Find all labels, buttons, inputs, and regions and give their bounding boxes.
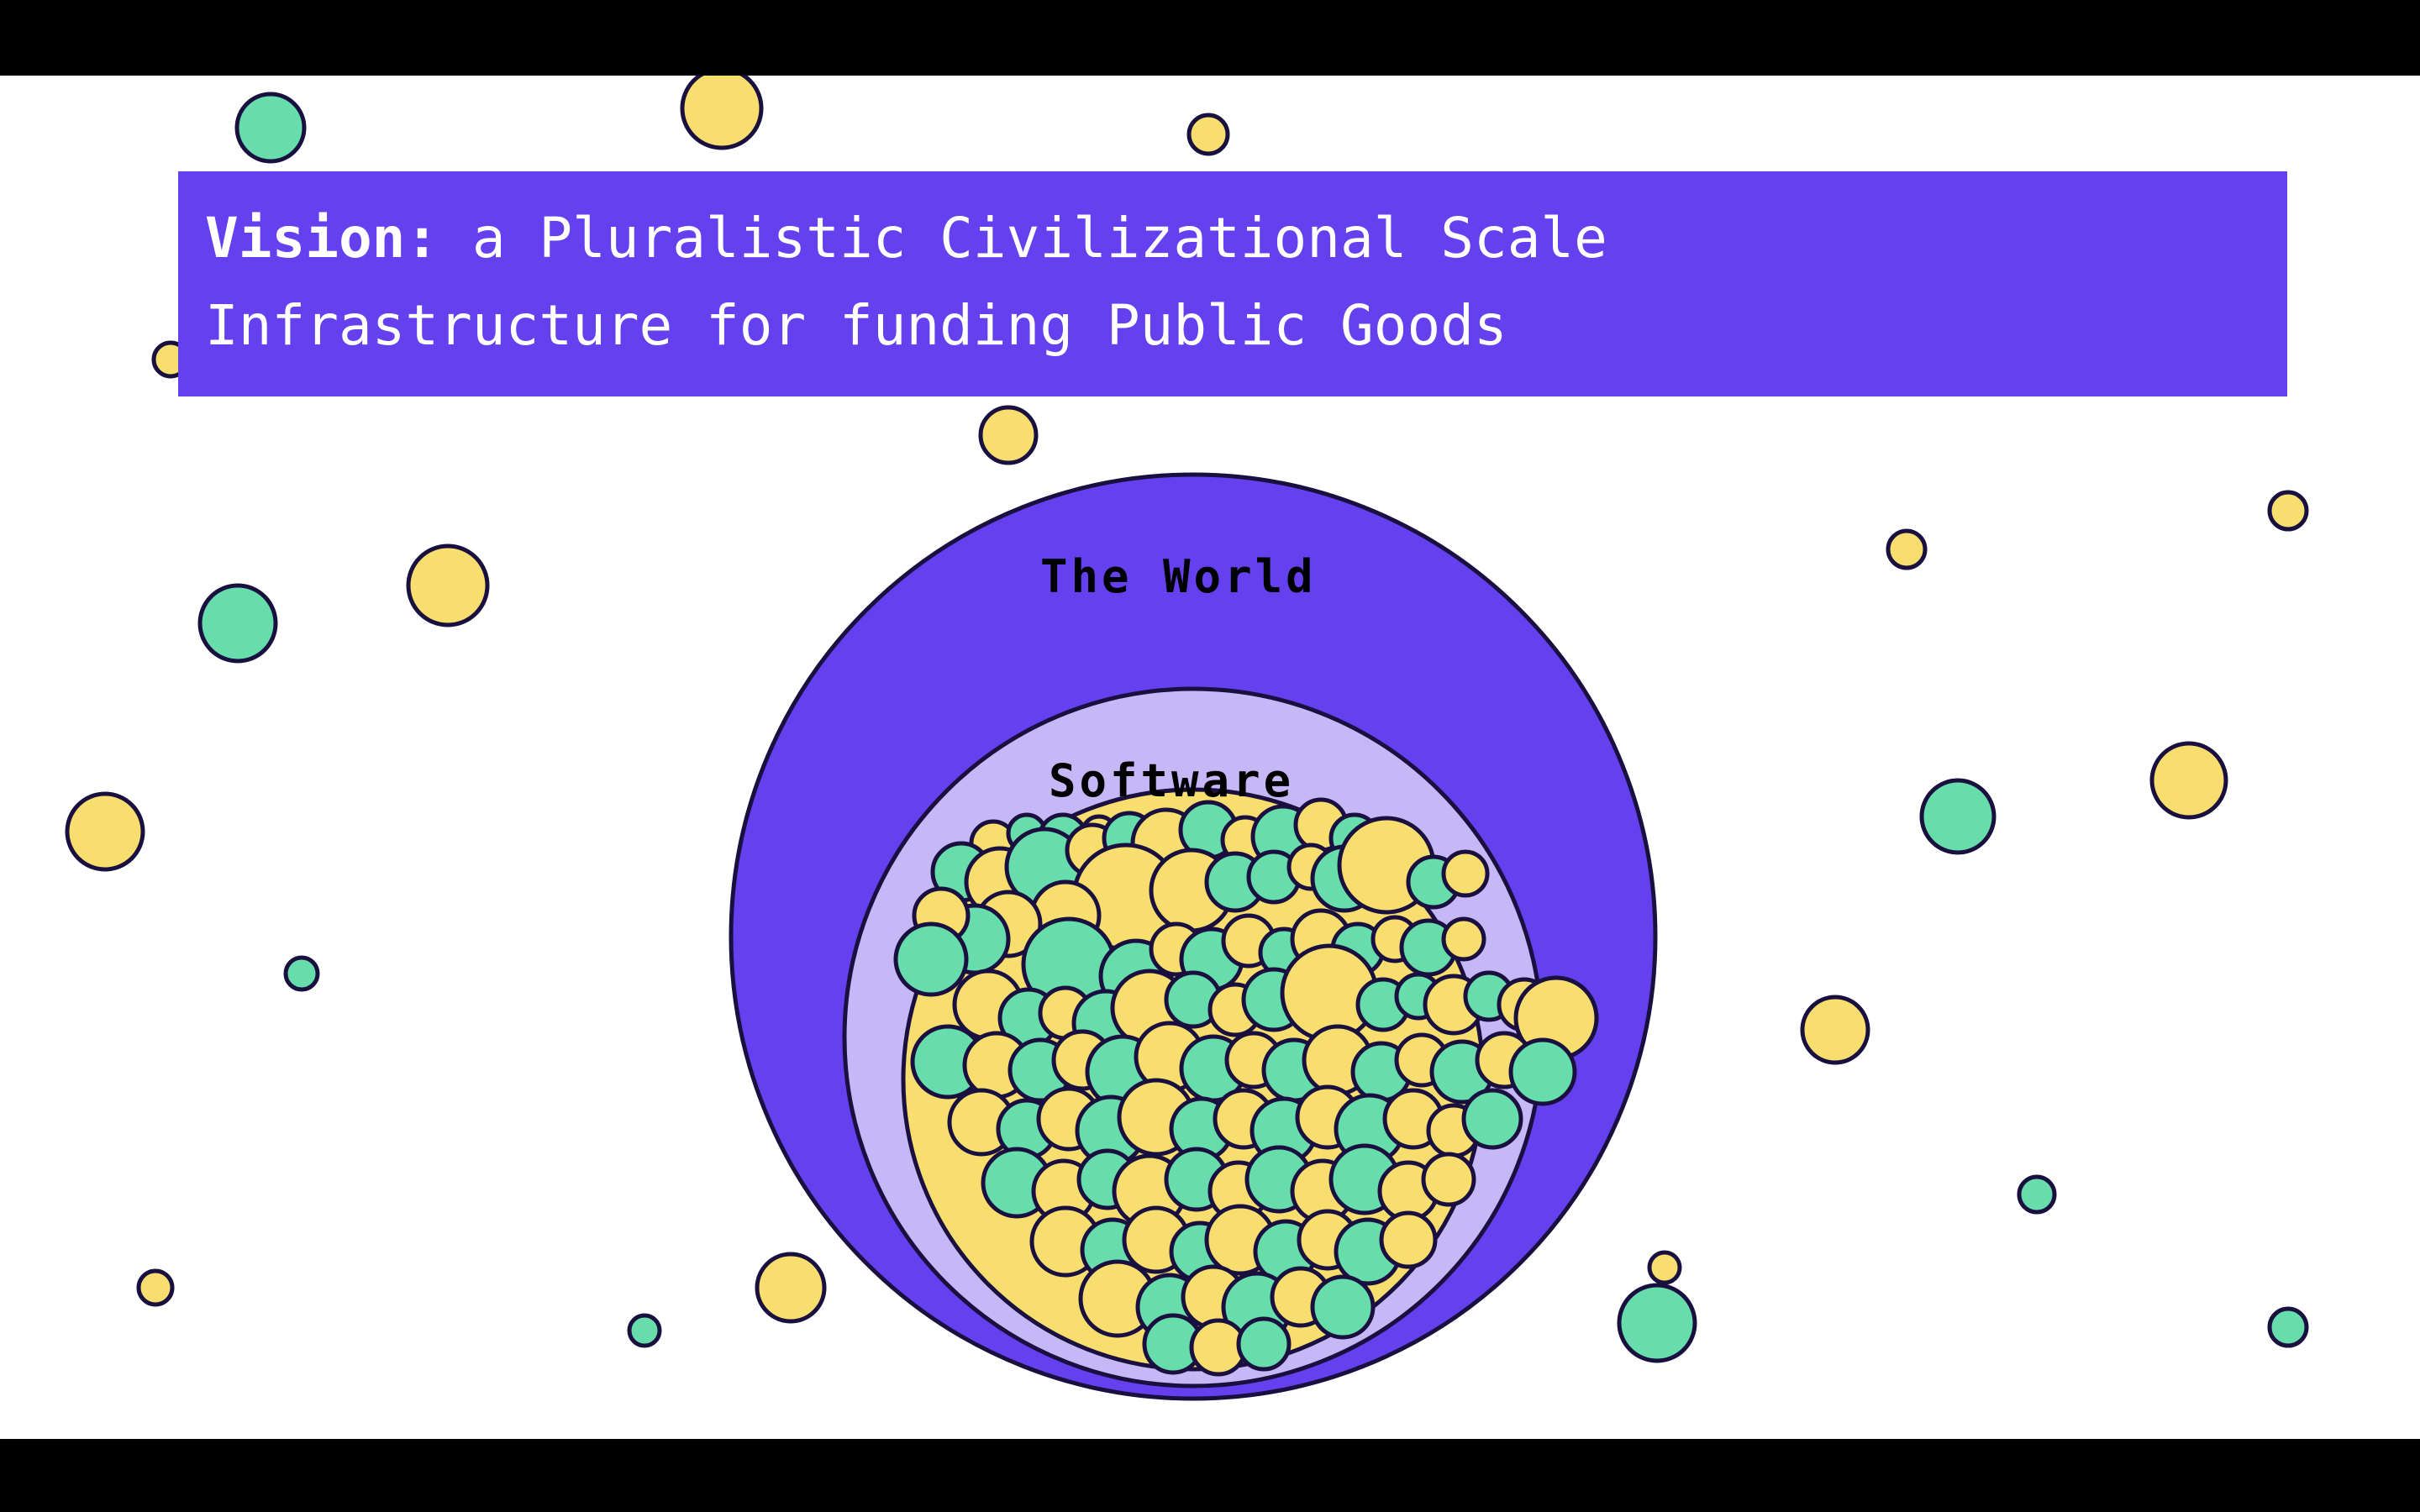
- scatter-bubble: [1189, 115, 1228, 154]
- scatter-bubble: [2270, 1309, 2307, 1346]
- scatter-bubble: [67, 794, 143, 869]
- title-emphasis: Vision:: [205, 206, 439, 270]
- scatter-bubble: [2152, 743, 2226, 817]
- title-line-two: Infrastructure for funding Public Goods: [205, 282, 2260, 370]
- project-bubble: [1423, 1154, 1474, 1205]
- title-line-one-rest: a Pluralistic Civilizational Scale: [439, 206, 1607, 270]
- scatter-bubble: [682, 69, 761, 148]
- outer-circle-label: The World: [1040, 550, 1317, 603]
- scatter-bubble: [629, 1315, 660, 1346]
- scatter-bubble: [1888, 531, 1925, 568]
- scatter-bubble: [408, 546, 487, 625]
- scatter-bubble: [2019, 1177, 2054, 1212]
- project-bubble: [1381, 1213, 1435, 1267]
- scatter-bubble: [1922, 780, 1994, 853]
- project-bubble: [1313, 1277, 1373, 1337]
- title-banner: Vision: a Pluralistic Civilizational Sca…: [178, 171, 2287, 396]
- project-bubble: [1464, 1090, 1521, 1147]
- scatter-bubble: [237, 94, 304, 161]
- slide-canvas: The World Software Vision: a Pluralistic…: [0, 0, 2420, 1512]
- project-bubble: [1444, 852, 1487, 895]
- scatter-bubble: [2270, 492, 2307, 529]
- title-line-one: Vision: a Pluralistic Civilizational Sca…: [205, 195, 2260, 282]
- inner-circle-label: Software: [1049, 754, 1294, 807]
- project-bubble: [896, 924, 966, 995]
- scatter-bubble: [757, 1254, 824, 1321]
- project-bubble: [1511, 1040, 1575, 1104]
- scatter-bubble: [981, 407, 1036, 463]
- scatter-bubble: [139, 1271, 172, 1305]
- scatter-bubble: [1619, 1285, 1695, 1361]
- letterbox-bottom-bar: [0, 1439, 2420, 1512]
- scatter-bubble: [1649, 1252, 1680, 1283]
- project-bubble: [1239, 1319, 1289, 1369]
- scatter-bubble: [286, 958, 318, 990]
- letterbox-top-bar: [0, 0, 2420, 76]
- scatter-bubble: [200, 585, 276, 661]
- scatter-bubble: [1802, 997, 1868, 1063]
- project-bubble: [1444, 919, 1484, 959]
